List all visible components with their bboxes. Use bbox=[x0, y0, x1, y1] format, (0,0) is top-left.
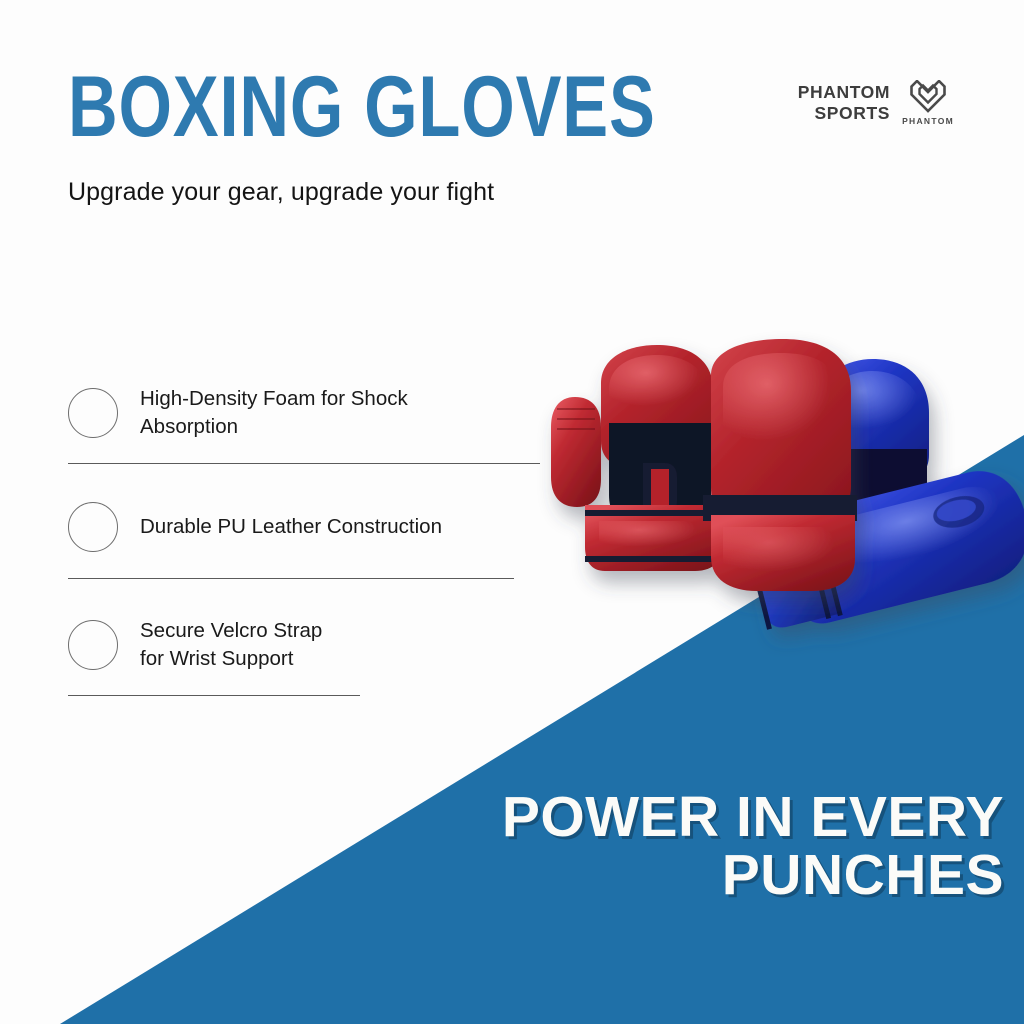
feature-list: High-Density Foam for Shock Absorption D… bbox=[68, 385, 540, 696]
boxing-gloves-photo bbox=[515, 345, 1024, 635]
footer-headline: POWER IN EVERY PUNCHES bbox=[304, 788, 1004, 904]
list-item: Secure Velcro Strap for Wrist Support bbox=[68, 617, 540, 673]
brand-wordmark: PHANTOM SPORTS bbox=[798, 82, 890, 125]
circle-outline-icon bbox=[68, 388, 118, 438]
feature-divider bbox=[68, 695, 360, 696]
brand-mark-label: PHANTOM bbox=[902, 116, 954, 126]
brand-logo: PHANTOM SPORTS PHANTOM bbox=[798, 80, 954, 126]
page-subtitle: Upgrade your gear, upgrade your fight bbox=[68, 178, 494, 207]
feature-label: Durable PU Leather Construction bbox=[140, 513, 442, 541]
page-title: BOXING GLOVES bbox=[68, 68, 656, 147]
phantom-heart-monogram-icon bbox=[906, 80, 950, 113]
feature-divider bbox=[68, 578, 514, 579]
circle-outline-icon bbox=[68, 620, 118, 670]
feature-label: High-Density Foam for Shock Absorption bbox=[140, 385, 408, 441]
circle-outline-icon bbox=[68, 502, 118, 552]
list-item: Durable PU Leather Construction bbox=[68, 502, 540, 552]
poster-canvas: BOXING GLOVES Upgrade your gear, upgrade… bbox=[0, 0, 1024, 1024]
brand-mark: PHANTOM bbox=[902, 80, 954, 126]
feature-label: Secure Velcro Strap for Wrist Support bbox=[140, 617, 322, 673]
list-item: High-Density Foam for Shock Absorption bbox=[68, 385, 540, 441]
feature-divider bbox=[68, 463, 540, 464]
